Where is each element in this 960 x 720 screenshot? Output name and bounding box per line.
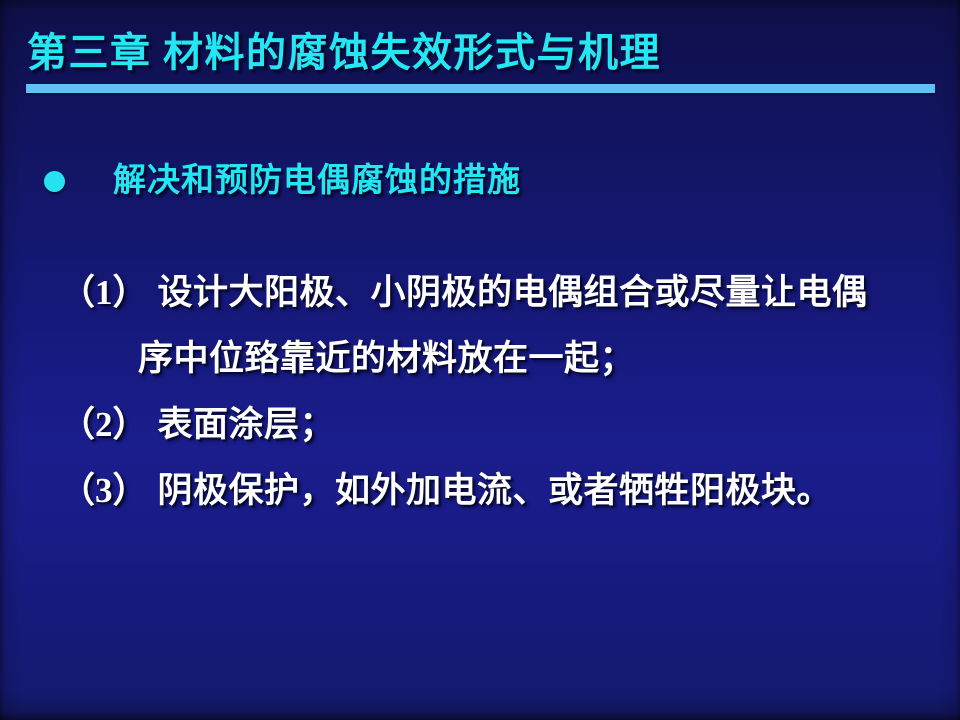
list-item-number: （2）: [60, 405, 148, 444]
section-heading-row: 解决和预防电偶腐蚀的措施: [44, 162, 521, 200]
filled-circle-bullet-icon: [44, 171, 65, 192]
list-item-text: 设计大阳极、小阴极的电偶组合或尽量让电偶: [158, 273, 868, 312]
list-item-text: 表面涂层；: [158, 405, 336, 444]
presentation-slide: 第三章 材料的腐蚀失效形式与机理 解决和预防电偶腐蚀的措施 （1）设计大阳极、小…: [0, 0, 960, 720]
slide-body-area: 解决和预防电偶腐蚀的措施 （1）设计大阳极、小阴极的电偶组合或尽量让电偶 序中位…: [0, 100, 960, 720]
list-item: （1）设计大阳极、小阴极的电偶组合或尽量让电偶: [0, 260, 960, 326]
list-item-text: 阴极保护，如外加电流、或者牺牲阳极块。: [158, 471, 833, 510]
page-title: 第三章 材料的腐蚀失效形式与机理: [27, 28, 661, 78]
title-underline-rule: [26, 84, 935, 93]
list-item-number: （1）: [60, 273, 148, 312]
section-heading-label: 解决和预防电偶腐蚀的措施: [113, 162, 521, 200]
numbered-points-list: （1）设计大阳极、小阴极的电偶组合或尽量让电偶 序中位臵靠近的材料放在一起； （…: [0, 260, 960, 524]
list-item: （3）阴极保护，如外加电流、或者牺牲阳极块。: [0, 458, 960, 524]
list-item: （2）表面涂层；: [0, 392, 960, 458]
slide-title-area: 第三章 材料的腐蚀失效形式与机理: [0, 0, 960, 100]
list-item-number: （3）: [60, 471, 148, 510]
list-item-text: 序中位臵靠近的材料放在一起；: [138, 339, 635, 378]
list-item: 序中位臵靠近的材料放在一起；: [0, 326, 960, 392]
